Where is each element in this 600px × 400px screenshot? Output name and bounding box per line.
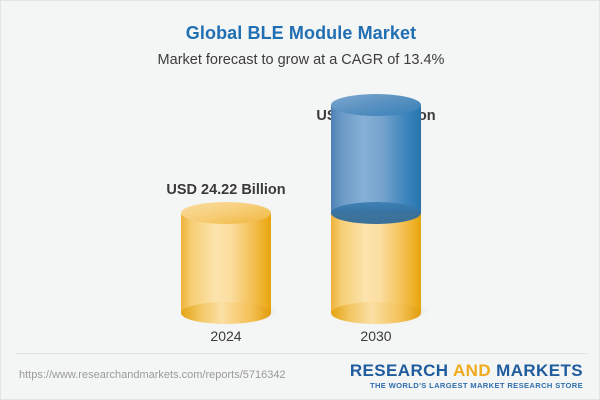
bar-segment-gold-2030 bbox=[331, 213, 421, 313]
logo-word-markets: MARKETS bbox=[496, 361, 583, 380]
logo-word-research: RESEARCH bbox=[350, 361, 449, 380]
bar-cylinder-2030 bbox=[331, 105, 421, 313]
chart-plot-area: USD 24.22 Billion 2024 USD 51.67 Billion bbox=[1, 81, 600, 346]
infographic-canvas: Global BLE Module Market Market forecast… bbox=[0, 0, 600, 400]
data-label-2024: USD 24.22 Billion bbox=[136, 182, 316, 198]
chart-subtitle: Market forecast to grow at a CAGR of 13.… bbox=[1, 52, 600, 68]
bar-segment-gold-2024 bbox=[181, 213, 271, 313]
bar-seam-ellipse-2030 bbox=[331, 202, 421, 224]
source-url-link[interactable]: https://www.researchandmarkets.com/repor… bbox=[19, 369, 286, 381]
bar-bottom-cap-2024 bbox=[181, 302, 271, 324]
logo-wordmark: RESEARCH AND MARKETS bbox=[350, 361, 583, 380]
bar-segment-blue-2030 bbox=[331, 105, 421, 213]
category-label-2030: 2030 bbox=[286, 328, 466, 344]
bar-cylinder-2024 bbox=[181, 213, 271, 313]
logo-tagline: THE WORLD'S LARGEST MARKET RESEARCH STOR… bbox=[350, 381, 583, 391]
footer-divider bbox=[15, 353, 587, 354]
logo-word-and: AND bbox=[453, 361, 491, 380]
page-title: Global BLE Module Market bbox=[1, 23, 600, 44]
bar-bottom-cap-2030 bbox=[331, 302, 421, 324]
bar-top-ellipse-2024 bbox=[181, 202, 271, 224]
research-and-markets-logo[interactable]: RESEARCH AND MARKETS THE WORLD'S LARGEST… bbox=[350, 361, 583, 391]
bar-top-ellipse-2030 bbox=[331, 94, 421, 116]
